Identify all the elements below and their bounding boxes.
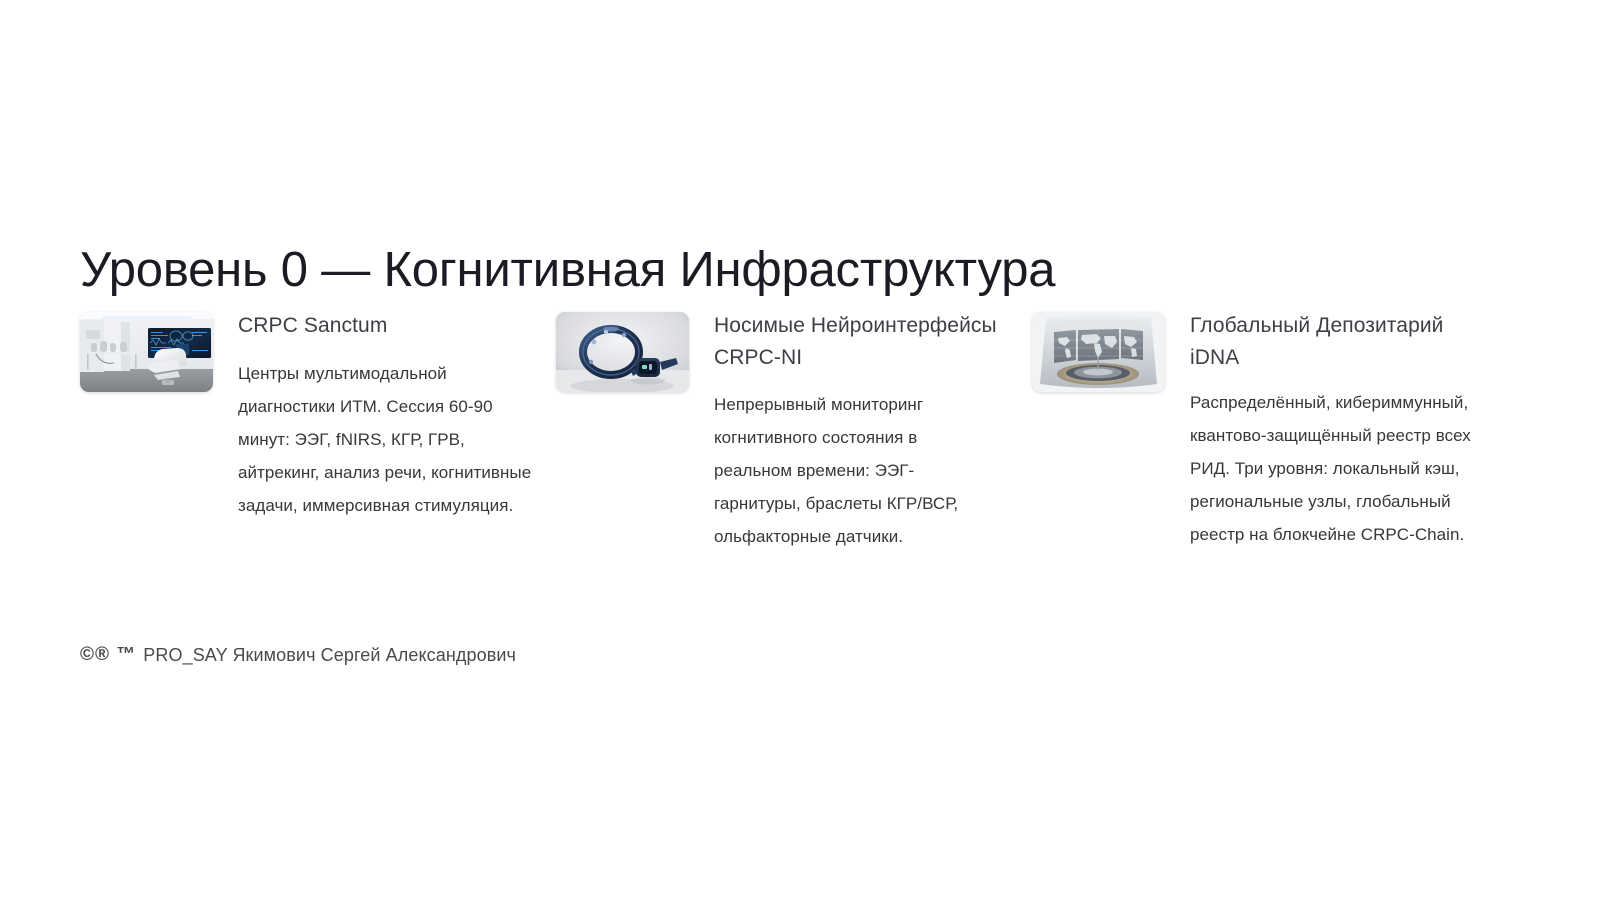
card-global-idna-depository: Глобальный Депозитарий iDNA Распределённ… [1032,310,1508,551]
card-text-block: Носимые Нейроинтерфейсы CRPC-NI Непрерыв… [714,310,999,553]
crpc-sanctum-clinic-photo [80,312,213,392]
card-text-block: CRPC Sanctum Центры мультимодальной диаг… [238,310,540,522]
slide-root: Уровень 0 — Когнитивная Инфраструктура [0,0,1600,902]
footer-copyright: ©® ™ PRO_SAY Якимович Сергей Александров… [80,644,516,666]
page-title: Уровень 0 — Когнитивная Инфраструктура [80,239,1055,301]
copyright-owner-text: PRO_SAY Якимович Сергей Александрович [143,645,516,666]
global-idna-depository-photo [1032,312,1165,392]
card-title: Глобальный Депозитарий iDNA [1190,310,1482,374]
card-body: Непрерывный мониторинг когнитивного сост… [714,388,999,553]
copyright-trademark-marks: ©® ™ [80,644,136,666]
card-wearable-neurointerfaces: Носимые Нейроинтерфейсы CRPC-NI Непрерыв… [556,310,1032,553]
card-title: CRPC Sanctum [238,310,540,342]
card-title: Носимые Нейроинтерфейсы CRPC-NI [714,310,999,374]
card-text-block: Глобальный Депозитарий iDNA Распределённ… [1190,310,1482,551]
wearable-neurointerface-photo [556,312,689,392]
card-body: Центры мультимодальной диагностики ИТМ. … [238,357,540,522]
card-body: Распределённый, кибериммунный, квантово-… [1190,386,1482,551]
card-crpc-sanctum: CRPC Sanctum Центры мультимодальной диаг… [80,310,556,522]
cards-row: CRPC Sanctum Центры мультимодальной диаг… [80,310,1520,553]
